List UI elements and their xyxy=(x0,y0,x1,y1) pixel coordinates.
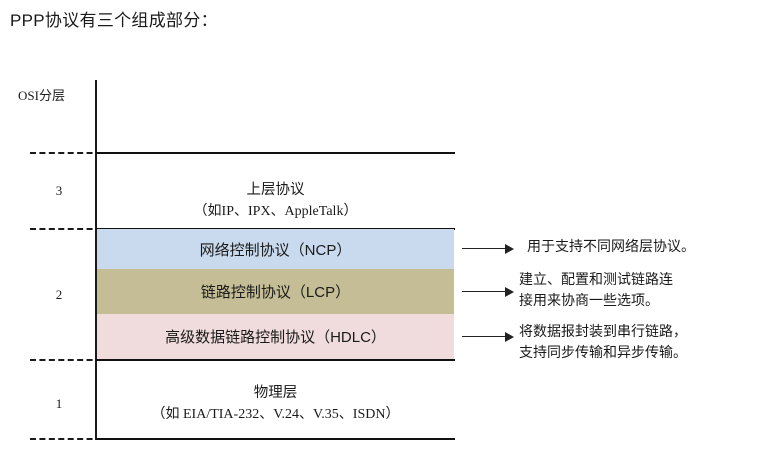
osi-axis-caption: OSI分层 xyxy=(18,88,65,104)
layer-number-1: 1 xyxy=(30,396,88,412)
ppp-osi-layer-diagram: OSI分层 3 上层协议 （如IP、IPX、AppleTalk） 2 网络控制协… xyxy=(0,0,759,465)
protocol-band-hdlc[interactable]: 高级数据链路控制协议（HDLC） xyxy=(97,314,454,359)
layer1-name-line1: 物理层 xyxy=(97,383,454,404)
rule-layer3-top xyxy=(96,152,455,154)
rule-layer2-bottom xyxy=(96,359,455,361)
arrow-shaft xyxy=(462,336,505,337)
arrow-head xyxy=(505,287,514,297)
arrow-shaft xyxy=(462,291,505,292)
tick-dash-layer3-top xyxy=(30,152,102,154)
layer3-name-line2: （如IP、IPX、AppleTalk） xyxy=(97,201,454,222)
annotation-lcp: 建立、配置和测试链路连 接用来协商一些选项。 xyxy=(519,269,673,311)
arrow-to-ncp-annotation xyxy=(462,243,514,255)
layer1-name: 物理层 （如 EIA/TIA-232、V.24、V.35、ISDN） xyxy=(97,383,454,425)
protocol-band-ncp-label: 网络控制协议（NCP） xyxy=(200,239,352,260)
layer-number-3: 3 xyxy=(30,183,88,199)
annotation-hdlc: 将数据报封装到串行链路， 支持同步传输和异步传输。 xyxy=(519,321,687,363)
layer3-name-line1: 上层协议 xyxy=(97,180,454,201)
rule-layer1-bottom xyxy=(96,438,455,440)
arrow-head xyxy=(505,244,514,254)
tick-dash-layer2-bottom xyxy=(30,359,102,361)
tick-dash-layer1-bottom xyxy=(30,438,102,440)
layer1-name-line2: （如 EIA/TIA-232、V.24、V.35、ISDN） xyxy=(97,404,454,425)
protocol-band-lcp-label: 链路控制协议（LCP） xyxy=(201,281,350,302)
arrow-to-lcp-annotation xyxy=(462,286,514,298)
arrow-head xyxy=(505,332,514,342)
protocol-band-lcp[interactable]: 链路控制协议（LCP） xyxy=(97,269,454,314)
annotation-ncp: 用于支持不同网络层协议。 xyxy=(527,236,695,257)
tick-dash-layer3-bottom xyxy=(30,228,102,230)
layer-number-2: 2 xyxy=(30,287,88,303)
arrow-shaft xyxy=(462,248,505,249)
protocol-band-hdlc-label: 高级数据链路控制协议（HDLC） xyxy=(165,326,386,347)
protocol-band-ncp[interactable]: 网络控制协议（NCP） xyxy=(97,229,454,269)
arrow-to-hdlc-annotation xyxy=(462,331,514,343)
layer3-name: 上层协议 （如IP、IPX、AppleTalk） xyxy=(97,180,454,222)
